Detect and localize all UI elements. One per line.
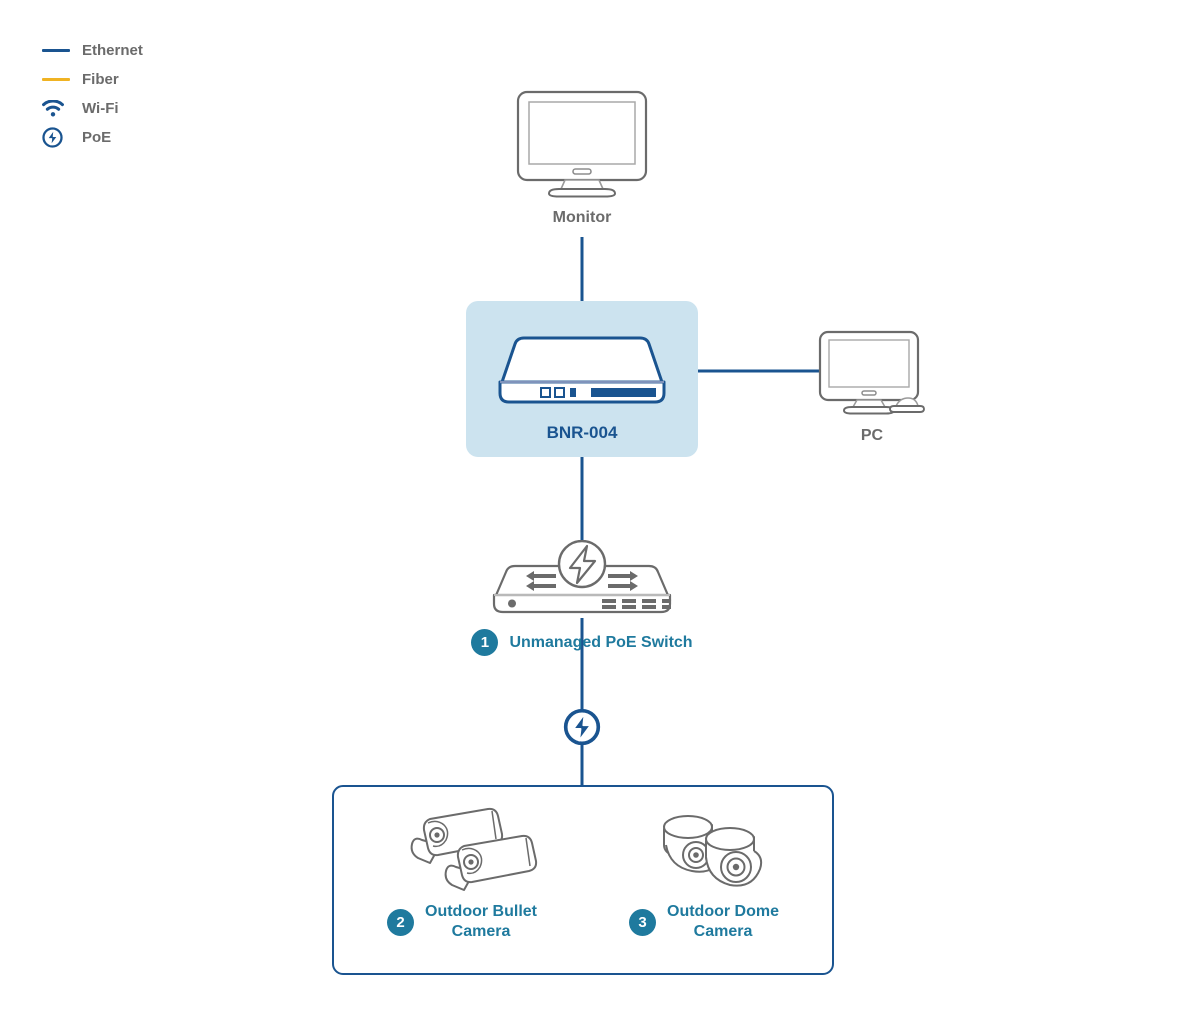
bnr-004-label: BNR-004: [482, 423, 682, 443]
dome-camera-icon: [648, 805, 788, 895]
poe-switch-label: Unmanaged PoE Switch: [509, 634, 692, 652]
monitor-icon: [502, 88, 662, 198]
dome-camera-label-line1: Outdoor Dome: [667, 903, 779, 920]
badge-number-3: 3: [629, 909, 656, 936]
node-bullet-camera[interactable]: 2 Outdoor Bullet Camera: [362, 805, 562, 942]
link-badge-poe: [563, 708, 601, 751]
pc-monitor-mouse-icon: [812, 328, 932, 418]
poe-switch-caption: 1 Unmanaged PoE Switch: [482, 629, 682, 656]
bullet-camera-label-line1: Outdoor Bullet: [425, 903, 537, 920]
node-monitor[interactable]: Monitor: [502, 88, 662, 227]
bullet-camera-caption: 2 Outdoor Bullet Camera: [362, 902, 562, 942]
pc-label: PC: [812, 427, 932, 445]
badge-number-1: 1: [471, 629, 498, 656]
bullet-camera-icon: [392, 805, 552, 895]
dome-camera-caption: 3 Outdoor Dome Camera: [604, 902, 804, 942]
badge-number-2: 2: [387, 909, 414, 936]
camera-group-box: 2 Outdoor Bullet Camera: [332, 785, 834, 975]
node-bnr-004[interactable]: BNR-004: [482, 330, 682, 443]
network-diagram: Monitor BNR-004 PC: [0, 0, 1200, 1034]
node-poe-switch[interactable]: 1 Unmanaged PoE Switch: [482, 540, 682, 656]
dome-camera-label-line2: Camera: [694, 923, 753, 940]
node-pc[interactable]: PC: [812, 328, 932, 445]
monitor-label: Monitor: [502, 209, 662, 227]
nvr-recorder-icon: [482, 330, 682, 410]
poe-switch-icon: [482, 540, 682, 620]
node-dome-camera[interactable]: 3 Outdoor Dome Camera: [604, 805, 804, 942]
bullet-camera-label-line2: Camera: [452, 923, 511, 940]
poe-bolt-icon: [563, 708, 601, 746]
